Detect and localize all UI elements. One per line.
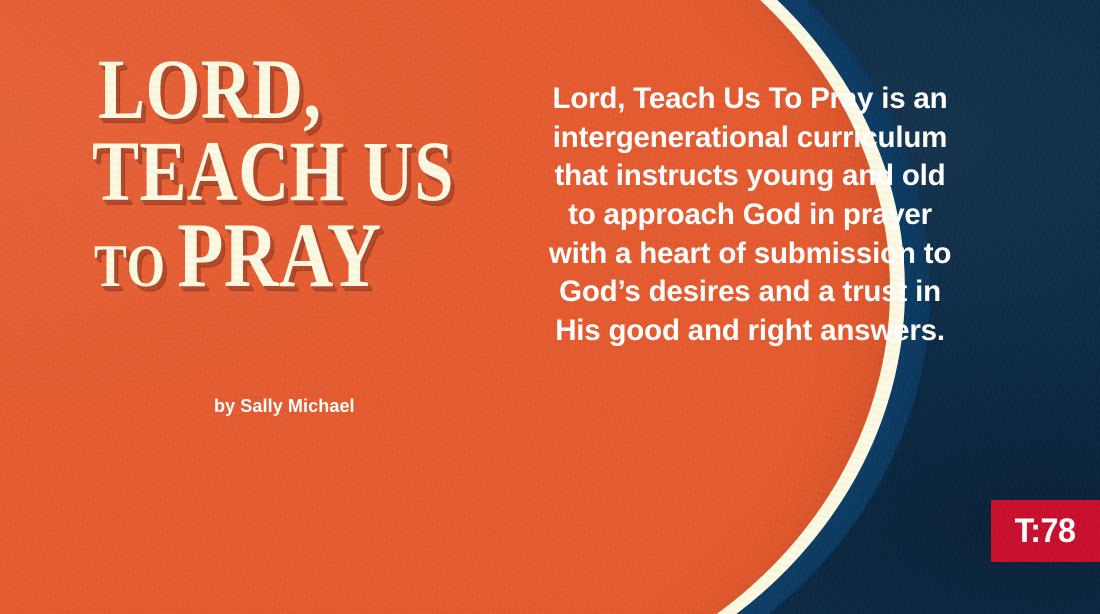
title-block: LORD, TEACH US TOPRAY: [92, 52, 562, 296]
promo-graphic: LORD, TEACH US TOPRAY by Sally Michael L…: [0, 0, 1100, 614]
title-line-1: LORD,: [98, 52, 478, 128]
author-byline: by Sally Michael: [214, 396, 355, 417]
logo-badge: T:78: [991, 500, 1100, 562]
description-paragraph: Lord, Teach Us To Pray is an intergenera…: [540, 80, 960, 350]
title-word-to: TO: [94, 233, 166, 299]
logo-badge-text: T:78: [1015, 512, 1076, 551]
content-layer: LORD, TEACH US TOPRAY by Sally Michael L…: [0, 0, 1100, 614]
title-line-3: TOPRAY: [94, 215, 478, 296]
title-word-pray: PRAY: [177, 204, 381, 306]
title-line-2: TEACH US: [92, 134, 477, 210]
